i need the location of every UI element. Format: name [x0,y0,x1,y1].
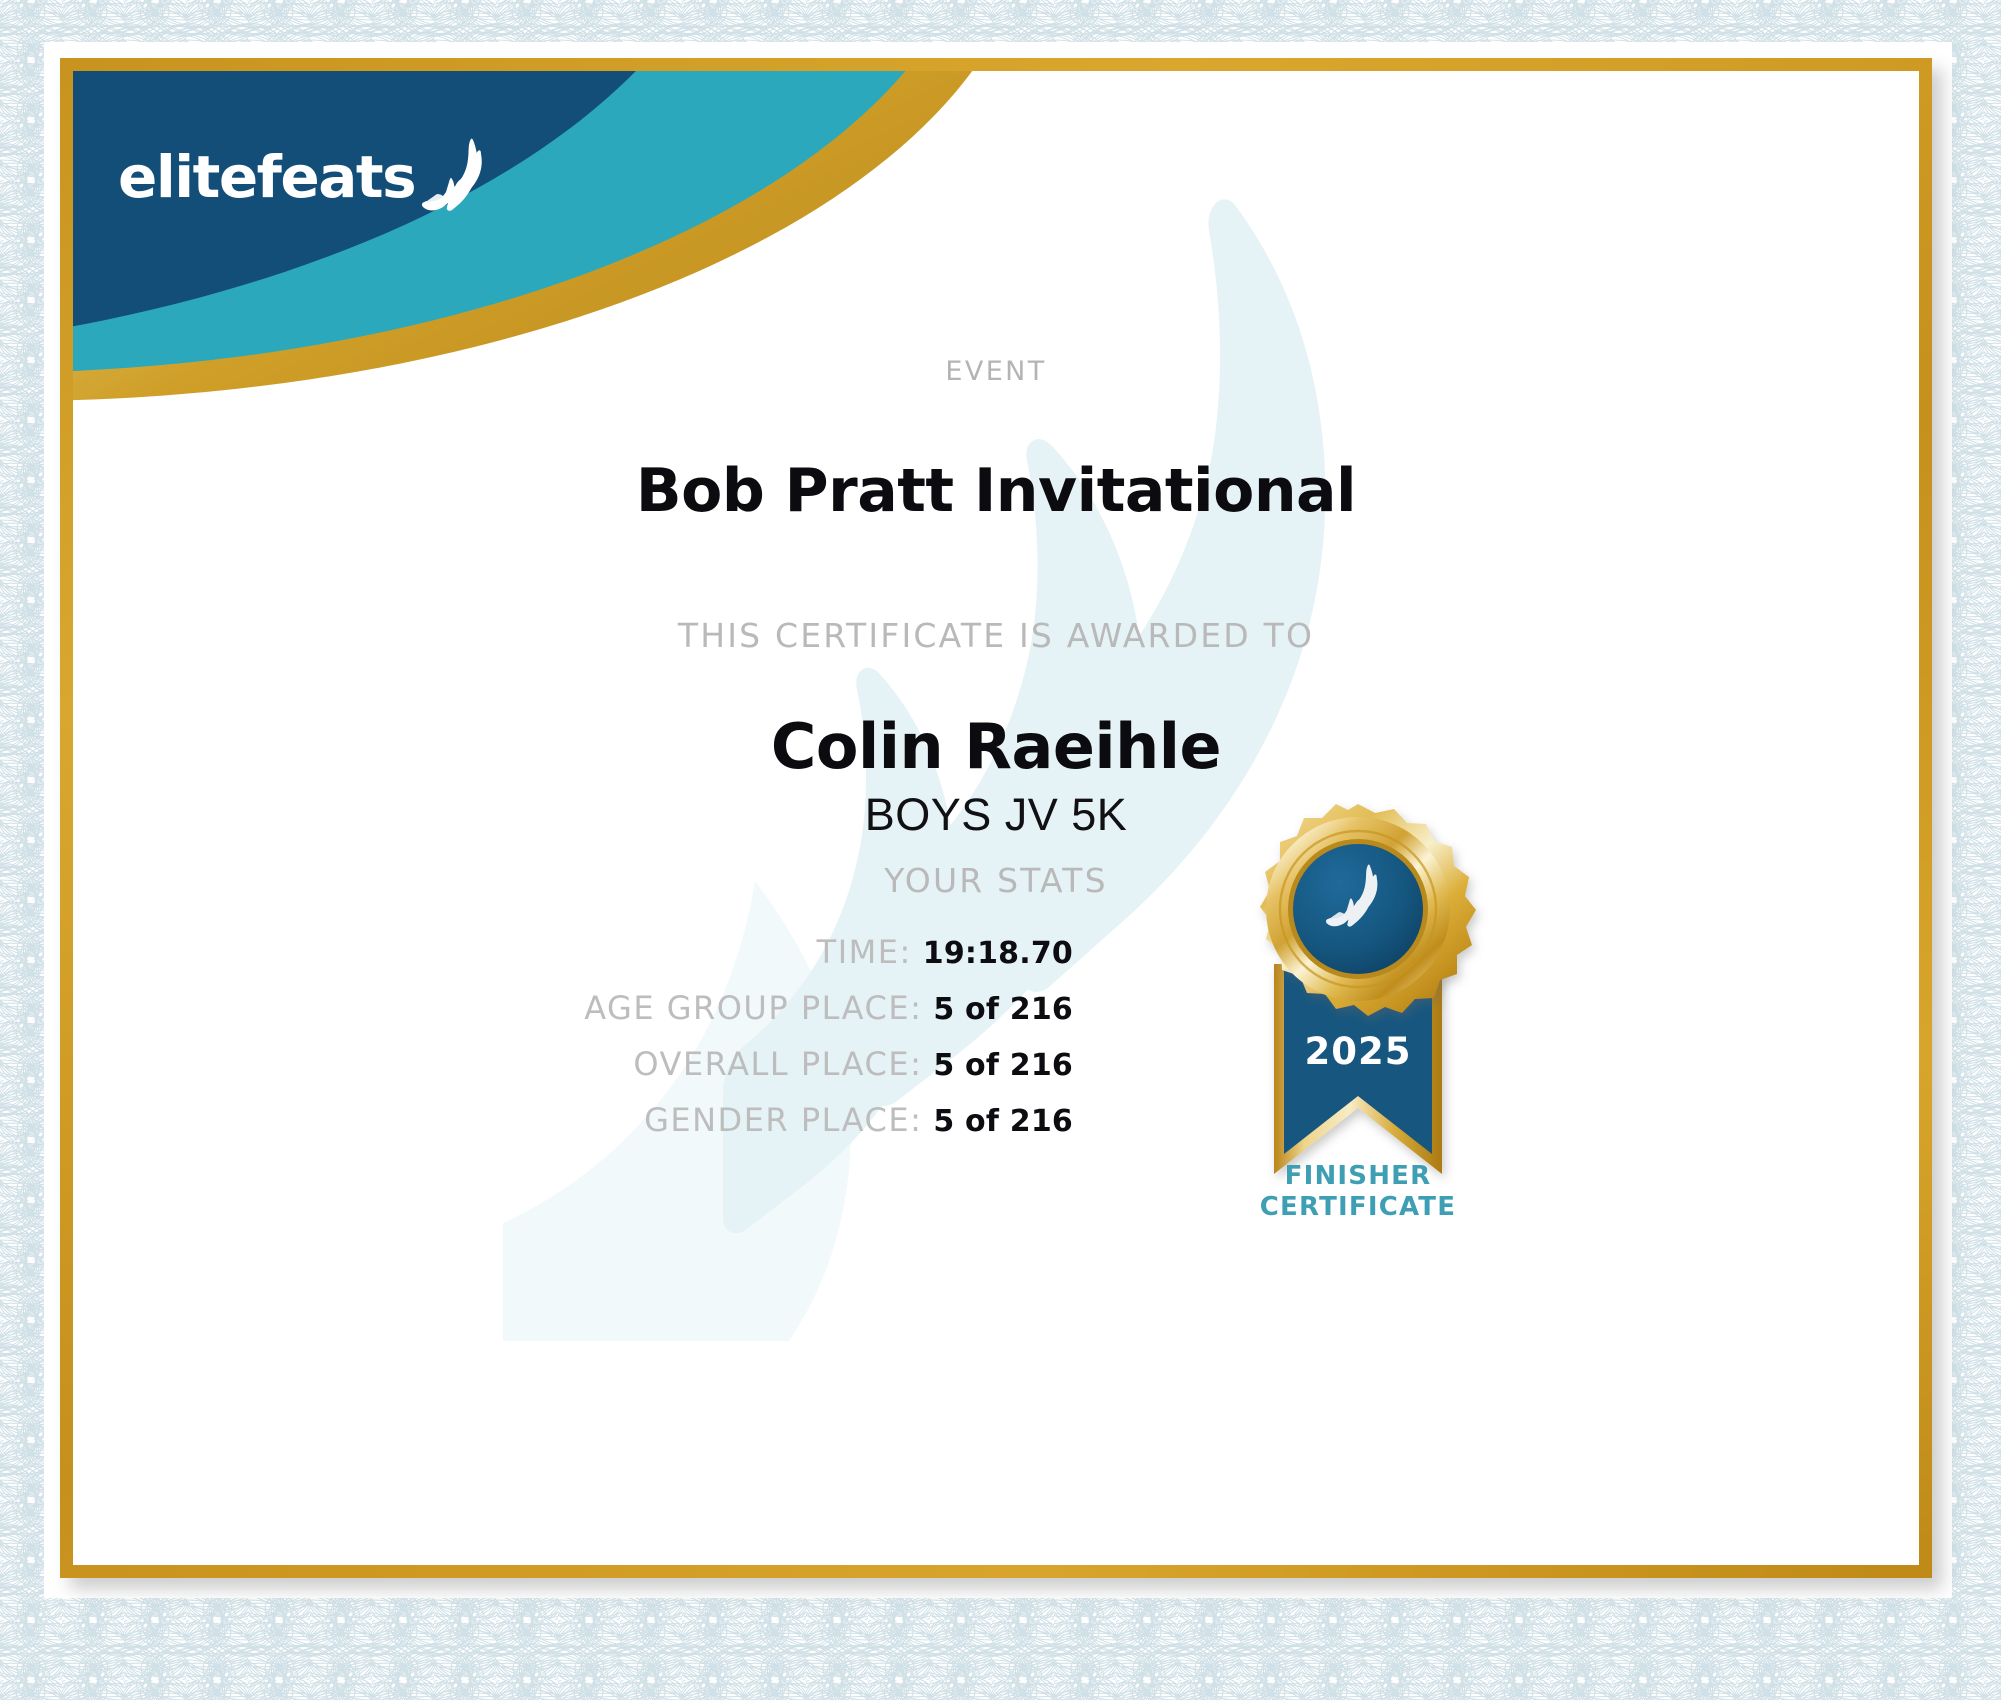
medal-caption-line-1: FINISHER [1193,1161,1523,1192]
stat-row-age-group-place: AGE GROUP PLACE: 5 of 216 [73,989,1073,1045]
medal-year: 2025 [1305,1030,1412,1073]
stat-value: 5 of 216 [933,1104,1073,1139]
your-stats-label: YOUR STATS [73,861,1919,900]
stat-label: OVERALL PLACE: [633,1045,922,1083]
certificate-inner-surface: elitefeats EVENT Bob Pratt Invitational … [73,71,1919,1565]
stat-label: AGE GROUP PLACE: [584,989,922,1027]
recipient-division: BOYS JV 5K [73,789,1919,841]
certificate-content: EVENT Bob Pratt Invitational THIS CERTIF… [73,71,1919,1565]
winged-foot-glyph [421,138,491,212]
stat-value: 5 of 216 [933,1048,1073,1083]
medal-caption-line-2: CERTIFICATE [1193,1192,1523,1223]
awarded-to-label: THIS CERTIFICATE IS AWARDED TO [73,616,1919,655]
stat-value: 19:18.70 [923,936,1073,971]
medal-caption: FINISHER CERTIFICATE [1193,1161,1523,1222]
stat-label: GENDER PLACE: [644,1101,922,1139]
winged-foot-icon [421,138,491,217]
stat-label: TIME: [817,933,912,971]
elitefeats-logo: elitefeats [118,136,491,217]
logo-wordmark: elitefeats [118,148,415,206]
stats-list: TIME: 19:18.70 AGE GROUP PLACE: 5 of 216… [73,933,1073,1157]
stat-row-overall-place: OVERALL PLACE: 5 of 216 [73,1045,1073,1101]
stat-row-gender-place: GENDER PLACE: 5 of 216 [73,1101,1073,1157]
certificate-card: elitefeats EVENT Bob Pratt Invitational … [60,58,1932,1578]
stat-row-time: TIME: 19:18.70 [73,933,1073,989]
event-label: EVENT [73,356,1919,387]
recipient-name: Colin Raeihle [73,710,1919,783]
event-name: Bob Pratt Invitational [73,456,1919,526]
stat-value: 5 of 216 [933,992,1073,1027]
